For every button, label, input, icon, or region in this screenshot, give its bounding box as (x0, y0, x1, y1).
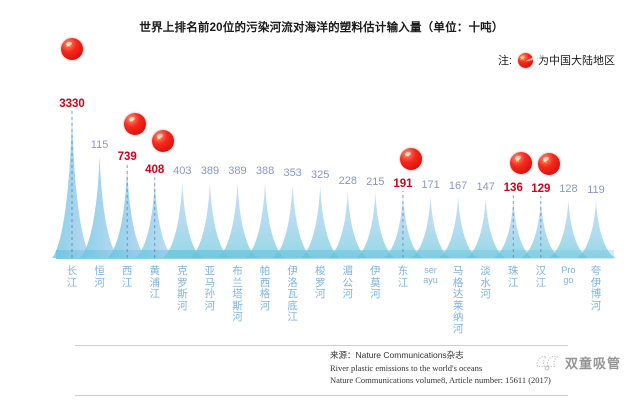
peak-area (245, 182, 285, 258)
value-label: 3330 (59, 98, 85, 110)
china-flag-marker-icon: ★ (61, 38, 83, 60)
china-flag-marker-icon: ★ (152, 130, 174, 152)
x-axis-label: 西江 (119, 266, 135, 289)
value-label: 136 (504, 182, 523, 194)
value-label: 119 (587, 184, 605, 196)
peak-area (466, 198, 506, 258)
peak-area (411, 196, 451, 258)
value-label: 353 (283, 167, 301, 179)
peak-area (300, 186, 340, 258)
value-label: 191 (393, 178, 412, 190)
source-line-3: Nature Communications volume8, Article n… (330, 374, 551, 387)
x-axis-label: 夸伊博河 (588, 266, 604, 312)
chart-page: 世界上排名前20位的污染河流对海洋的塑料估计输入量（单位：十吨） 注: ★ 为中… (0, 0, 643, 407)
china-flag-marker-icon: ★ (124, 113, 146, 135)
x-axis-label: 布兰塔斯河 (229, 266, 245, 324)
watermark-label: 双童吸管 (565, 353, 621, 372)
peak-area (273, 184, 313, 258)
source-line-1: 来源：Nature Communications杂志 (330, 349, 551, 362)
source-line-2: River plastic emissions to the world's o… (330, 362, 551, 375)
value-label: 129 (531, 183, 550, 195)
x-axis-label: 伊莫河 (367, 266, 383, 301)
x-axis-label: Progo (560, 266, 576, 285)
x-axis-label: 黄浦江 (147, 266, 163, 301)
x-axis-label: 帕西格河 (257, 266, 273, 312)
value-label: 408 (145, 164, 164, 176)
x-axis-label: 淡水河 (478, 266, 494, 301)
x-axis-label: 珠江 (505, 266, 521, 289)
x-axis-label: 长江 (64, 266, 80, 289)
peak-area (356, 193, 396, 258)
peak-area (438, 197, 478, 258)
value-label: 389 (228, 165, 246, 177)
value-label: 128 (559, 183, 577, 195)
watermark: 双童吸管 (534, 352, 621, 372)
x-axis-label: 克罗斯河 (174, 266, 190, 312)
x-axis-label: 湄公河 (340, 266, 356, 301)
china-flag-marker-icon: ★ (510, 152, 532, 174)
value-label: 325 (311, 169, 329, 181)
china-flag-marker-icon: ★ (538, 153, 560, 175)
value-label: 403 (173, 165, 191, 177)
x-axis-label: 梭罗河 (312, 266, 328, 301)
leaf-logo-icon (534, 352, 560, 372)
source-citation: 来源：Nature Communications杂志 River plastic… (330, 349, 551, 387)
peak-area (576, 201, 616, 258)
peak-area (328, 192, 368, 258)
peak-area (218, 182, 258, 258)
x-axis-label: serayu (423, 266, 439, 285)
x-axis-label: 伊洛瓦底江 (285, 266, 301, 324)
value-label: 388 (256, 165, 274, 177)
x-axis-label: 恒河 (92, 266, 108, 289)
footer-divider-bottom (75, 395, 568, 396)
value-label: 167 (449, 180, 467, 192)
value-label: 115 (91, 139, 109, 151)
value-label: 171 (421, 179, 439, 191)
x-axis-label: 马格达莱纳河 (450, 266, 466, 335)
peak-area (190, 182, 230, 258)
peak-area (549, 200, 589, 258)
x-axis-label: 东江 (395, 266, 411, 289)
value-label: 228 (339, 175, 357, 187)
x-axis-label: 汉江 (533, 266, 549, 289)
footer-divider-top (75, 345, 568, 346)
value-label: 739 (118, 151, 137, 163)
peak-area (80, 156, 120, 258)
x-axis-label: 亚马孙河 (202, 266, 218, 312)
china-flag-marker-icon: ★ (400, 148, 422, 170)
peak-area (162, 182, 202, 258)
value-label: 389 (201, 165, 219, 177)
value-label: 215 (366, 176, 384, 188)
value-label: 147 (476, 181, 494, 193)
